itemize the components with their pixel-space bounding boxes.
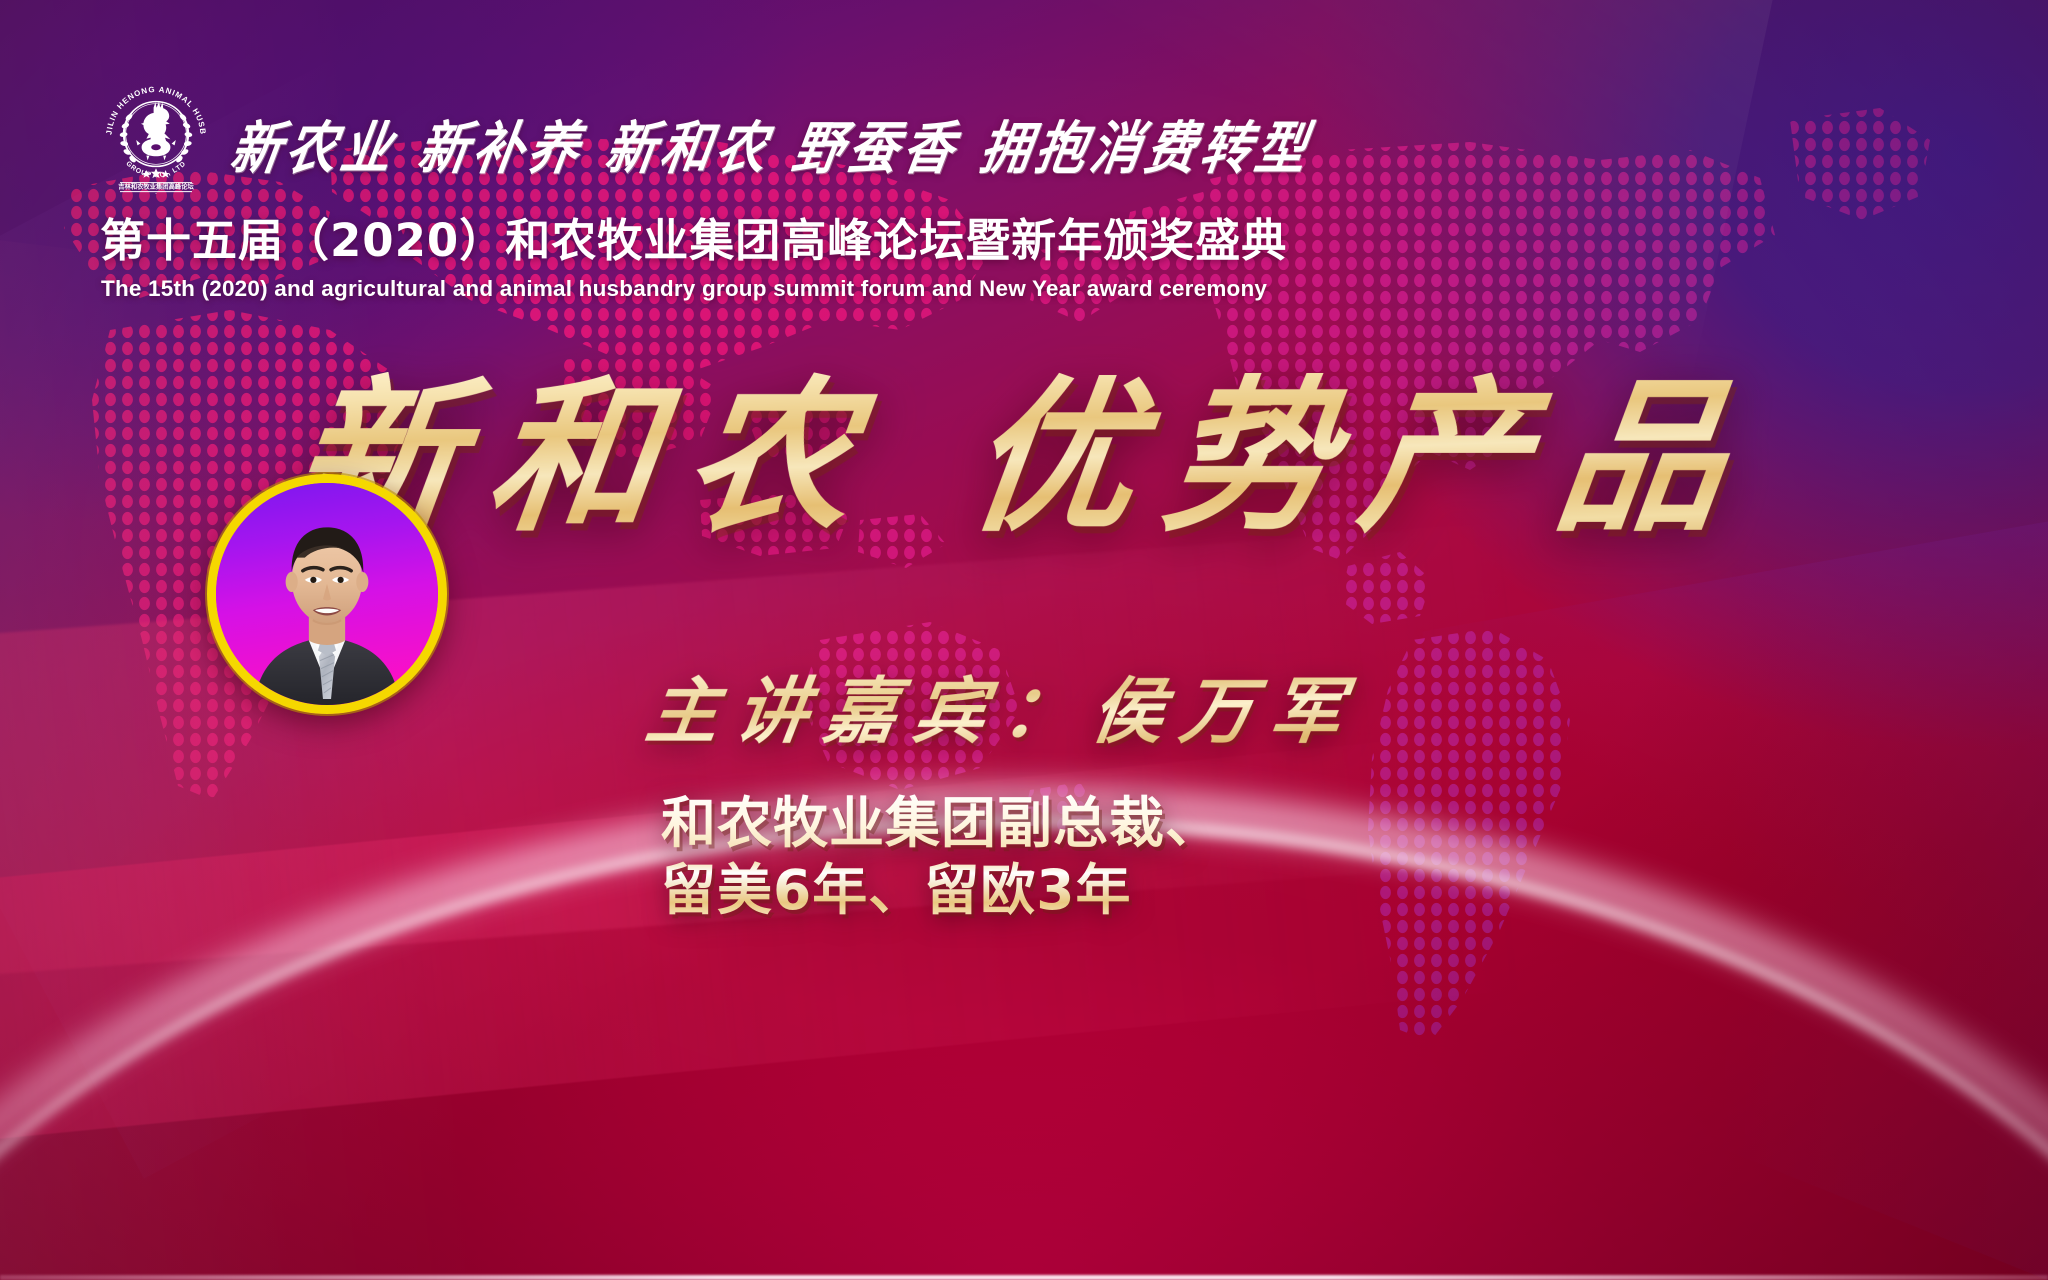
slide-canvas: CHINA JILIN HENONG ANIMAL HUSBANDRY GROU… (0, 0, 2048, 1280)
event-slogan: 新农业 新补养 新和农 野蚕香 拥抱消费转型 (225, 103, 1318, 185)
speaker-description: 和农牧业集团副总裁、 留美6年、留欧3年 (661, 790, 1221, 924)
header-block: CHINA JILIN HENONG ANIMAL HUSBANDRY GROU… (96, 74, 1276, 302)
event-title-english: The 15th (2020) and agricultural and ani… (101, 276, 1276, 302)
bottom-edge-light (0, 1275, 2048, 1280)
event-title-chinese: 第十五届（2020）和农牧业集团高峰论坛暨新年颁奖盛典 (100, 204, 1276, 269)
header-top-row: CHINA JILIN HENONG ANIMAL HUSBANDRY GROU… (96, 74, 1276, 194)
speaker-name-line: 主讲嘉宾：侯万军 (641, 652, 1368, 757)
company-logo-icon: CHINA JILIN HENONG ANIMAL HUSBANDRY GROU… (96, 74, 216, 194)
speaker-avatar (207, 474, 447, 714)
